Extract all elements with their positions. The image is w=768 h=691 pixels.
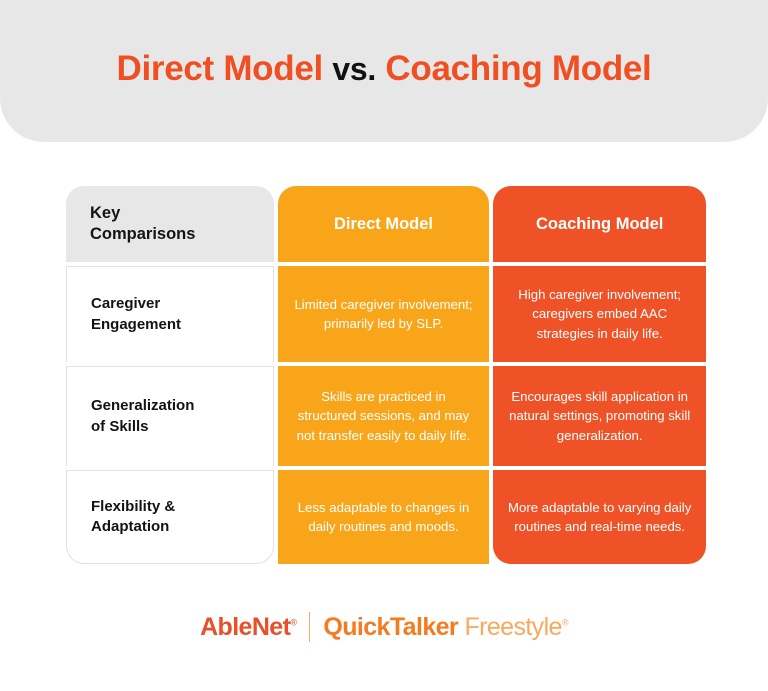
table-column-key-comparisons: Key Comparisons Caregiver Engagement Gen… — [66, 186, 274, 564]
table-column-coaching-model: Coaching Model High caregiver involvemen… — [493, 186, 706, 564]
table-column-direct-model: Direct Model Limited caregiver involveme… — [278, 186, 490, 564]
cell-direct-caregiver-engagement: Limited caregiver involvement; primarily… — [278, 266, 490, 362]
ablenet-logo: AbleNet® — [200, 613, 296, 642]
freestyle-wordmark: Freestyle — [464, 613, 561, 641]
cell-coaching-caregiver-engagement: High caregiver involvement; caregivers e… — [493, 266, 706, 362]
cell-coaching-flexibility-adaptation: More adaptable to varying daily routines… — [493, 470, 706, 564]
comparison-table: Key Comparisons Caregiver Engagement Gen… — [66, 186, 706, 564]
row-label-flexibility-adaptation: Flexibility & Adaptation — [66, 470, 274, 564]
row-label-line2: of Skills — [91, 417, 149, 437]
cell-direct-generalization-of-skills: Skills are practiced in structured sessi… — [278, 366, 490, 466]
cell-coaching-generalization-of-skills: Encourages skill application in natural … — [493, 366, 706, 466]
row-label-line1: Caregiver — [91, 294, 160, 314]
page-title-part2: Coaching Model — [385, 49, 651, 88]
cell-direct-flexibility-adaptation: Less adaptable to changes in daily routi… — [278, 470, 490, 564]
logo-divider — [309, 612, 310, 642]
freestyle-trademark-icon: ® — [562, 617, 568, 627]
quicktalker-freestyle-logo: QuickTalker Freestyle® — [323, 613, 568, 642]
column-header-key-comparisons: Key Comparisons — [66, 186, 274, 262]
page-title: Direct Model vs. Coaching Model — [117, 50, 652, 89]
column-header-key-comparisons-line2: Comparisons — [90, 224, 195, 245]
row-label-line1: Generalization — [91, 396, 194, 416]
page-header-band: Direct Model vs. Coaching Model — [0, 0, 768, 142]
row-label-line2: Engagement — [91, 315, 181, 335]
column-header-key-comparisons-line1: Key — [90, 203, 120, 224]
footer-logo-lockup: AbleNet® QuickTalker Freestyle® — [0, 612, 768, 642]
quicktalker-wordmark: QuickTalker — [323, 613, 458, 641]
row-label-line1: Flexibility & — [91, 497, 175, 517]
page-title-part1: Direct Model — [117, 49, 323, 88]
column-header-direct-model: Direct Model — [278, 186, 490, 262]
row-label-line2: Adaptation — [91, 517, 169, 537]
row-label-generalization-of-skills: Generalization of Skills — [66, 366, 274, 466]
page-title-vs: vs. — [332, 51, 376, 87]
ablenet-trademark-icon: ® — [290, 617, 296, 627]
column-header-coaching-model: Coaching Model — [493, 186, 706, 262]
row-label-caregiver-engagement: Caregiver Engagement — [66, 266, 274, 362]
ablenet-wordmark: AbleNet — [200, 613, 290, 641]
